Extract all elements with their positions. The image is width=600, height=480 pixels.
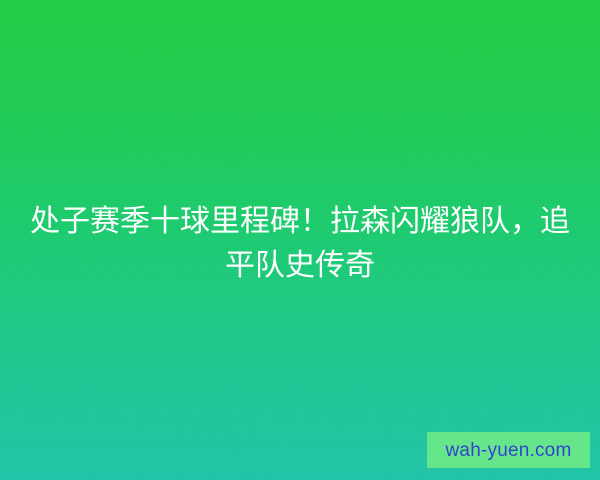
cover-image-card: 处子赛季十球里程碑！拉森闪耀狼队，追平队史传奇 wah-yuen.com: [0, 0, 600, 480]
watermark-site-label: wah-yuen.com: [446, 441, 572, 460]
watermark-badge: wah-yuen.com: [427, 432, 590, 468]
headline-title: 处子赛季十球里程碑！拉森闪耀狼队，追平队史传奇: [30, 200, 570, 288]
